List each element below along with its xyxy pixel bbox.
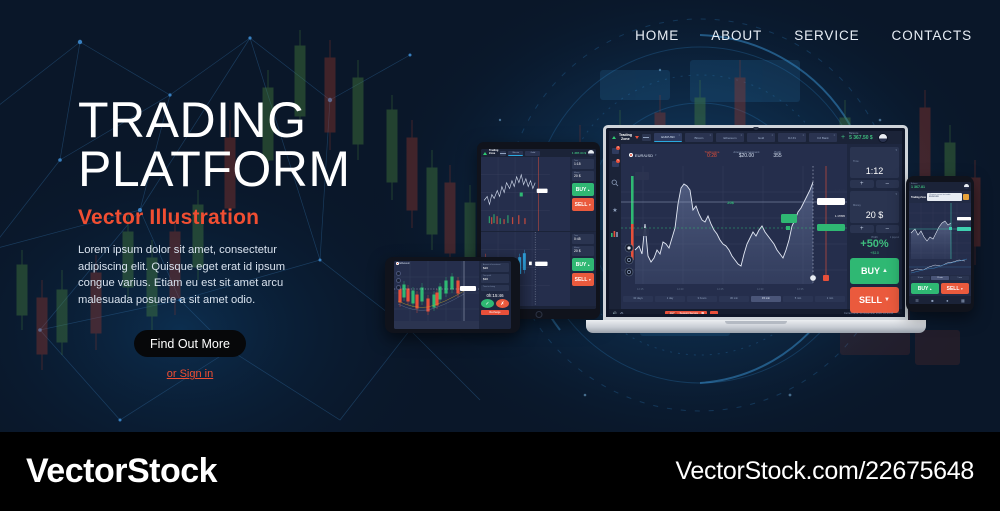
close-icon[interactable]: ✕ — [771, 134, 773, 137]
buy-button[interactable]: BUY ▲ — [850, 258, 899, 284]
laptop-screen: Trading Zone EUR/USD ✕ Bitcoin ✕ — [609, 131, 902, 314]
tablet-trade-panel-2: Time 0:45 Money 20 $ BUY ▲ SELL — [570, 232, 596, 306]
tablet-topbar: Trading Zone Bitcoin Gold 1 387.34 $ — [481, 149, 596, 157]
page-title-line1: TRADING — [78, 96, 408, 145]
laptop-tab-ethereum[interactable]: Ethereum ✕ — [716, 133, 744, 142]
time-plus-button[interactable]: + — [850, 180, 874, 188]
close-icon[interactable]: ✕ — [802, 134, 804, 137]
phone-pt-brand: Trading Zone — [911, 196, 926, 199]
stat-investment: Amount of investment $20.00 — [733, 151, 759, 160]
gear-icon[interactable]: ⚙ — [620, 311, 624, 314]
phone-ls-action-buttons: ✓ ✗ — [481, 299, 509, 308]
tablet-buy-button-1[interactable]: BUY ▲ — [572, 183, 594, 196]
sell-button[interactable]: SELL ▼ — [850, 287, 899, 313]
hero-paragraph: Lorem ipsum dolor sit amet, consectetur … — [78, 242, 290, 308]
svg-text:12:30: 12:30 — [757, 287, 764, 291]
chevron-down-icon[interactable]: ▾ — [895, 148, 897, 152]
laptop-base — [586, 320, 926, 333]
add-tab-button[interactable]: + — [841, 134, 845, 141]
tablet-balance: 1 387.34 $ — [572, 151, 586, 155]
arrow-down-icon: ▼ — [588, 278, 591, 282]
close-icon[interactable]: ✕ — [740, 134, 742, 137]
chat-icon[interactable] — [710, 311, 718, 314]
price-area-chart: 12:1512:20 12:2512:30 12:35 — [621, 166, 847, 292]
avatar[interactable] — [878, 133, 888, 143]
laptop-chart-area: EUR/USD ▾ Trading time 0:28 Amount of in… — [621, 144, 847, 309]
wallet-icon[interactable]: ■ — [931, 298, 933, 303]
phone-icon: ☎ — [701, 312, 704, 314]
nav-item-service[interactable]: SERVICE — [794, 28, 859, 43]
laptop-tab-djbank[interactable]: DJ Bank ✕ — [809, 133, 837, 142]
laptop-tab-bitcoin[interactable]: Bitcoin ✕ — [685, 133, 713, 142]
tablet-money-field-2[interactable]: Money 20 $ — [572, 246, 594, 256]
laptop-lid: Trading Zone EUR/USD ✕ Bitcoin ✕ — [603, 125, 908, 320]
phone-portrait-screen: Balance 1 367.81 Trading Zone Choose ass… — [909, 182, 971, 304]
timeframe-15-min[interactable]: 15 min — [751, 296, 781, 302]
price-tag-top: 1.18436 — [835, 188, 845, 192]
avatar[interactable] — [588, 150, 594, 156]
svg-text:12:35: 12:35 — [797, 287, 804, 291]
phone-pt-bottom-nav: ☰ ■ ● ▦ — [909, 296, 971, 304]
stat-profit: Profit 355 — [773, 151, 781, 160]
tablet-money-field-1[interactable]: Money 20 $ — [572, 171, 594, 181]
tablet-trade-panel-1: Time 1:15 Money 20 $ BUY ▲ SELL — [570, 157, 596, 231]
phone-ls-profit-field[interactable]: Your profit $30 — [481, 274, 509, 283]
arrow-down-icon: ▼ — [588, 203, 591, 207]
close-icon[interactable]: ✕ — [709, 134, 711, 137]
nav-item-contacts[interactable]: CONTACTS — [892, 28, 972, 43]
asset-search-input[interactable]: Choose asset to trade EUR/USD — [927, 193, 962, 201]
brand-triangle-up-icon — [483, 152, 487, 155]
card-icon[interactable] — [642, 134, 651, 141]
arrow-down-icon: ▼ — [884, 297, 890, 303]
close-icon[interactable]: ✕ — [833, 134, 835, 137]
phone-pt-tf-3[interactable]: 5 min — [950, 276, 969, 280]
laptop-tab-gold[interactable]: Gold ✕ — [747, 133, 775, 142]
arrow-up-icon: ▲ — [587, 263, 590, 267]
laptop-tab-eurusd[interactable]: EUR/USD ✕ — [654, 133, 682, 142]
portfolio-icon[interactable]: ☰ — [915, 298, 919, 303]
arrow-up-icon: ▲ — [587, 188, 590, 192]
phone-pt-tf-1[interactable]: 30 min — [911, 276, 930, 280]
tablet-time-field-1[interactable]: Time 1:15 — [572, 159, 594, 169]
stat-trading-time: Trading time 0:28 — [705, 151, 720, 160]
svg-text:12:25: 12:25 — [717, 287, 724, 291]
phone-pt-timeframes: 30 min 15 min 5 min — [909, 275, 971, 281]
main-navigation: HOME ABOUT SERVICE CONTACTS — [635, 28, 972, 43]
phone-pt-area-chart — [909, 203, 971, 275]
menu-icon[interactable]: ▦ — [961, 298, 965, 303]
arrow-up-icon: ▲ — [882, 268, 888, 274]
brand-triangle-down-icon — [635, 136, 639, 139]
phone-ls-trade-panel: Amount of investment $20 Your profit $30… — [479, 261, 511, 329]
alerts-icon[interactable] — [963, 194, 969, 200]
phone-pt-buy-button[interactable]: BUY ▲ — [911, 283, 939, 294]
phone-landscape-screen: Ethereum — [394, 261, 511, 329]
phone-pt-action-buttons: BUY ▲ SELL ▼ — [909, 283, 971, 294]
tablet-tab-bitcoin[interactable]: Bitcoin — [508, 151, 523, 156]
card-icon — [500, 151, 506, 156]
phone-ls-recharge-button[interactable]: Recharge — [481, 310, 509, 315]
laptop-body: 3 5 — [609, 144, 902, 309]
volume-icon[interactable]: 🔊 — [612, 311, 617, 314]
svg-text:12:20: 12:20 — [677, 287, 684, 291]
timeframe-buttons: 30 days 1 day 3 hours 30 min 15 min 5 mi… — [621, 295, 847, 302]
tablet-home-button[interactable] — [535, 311, 542, 318]
sidebar-item-alerts[interactable]: 5 — [611, 161, 619, 167]
tablet-chart-panel-1: Time 1:15 Money 20 $ BUY ▲ SELL — [481, 157, 596, 232]
arrow-up-icon: ▲ — [929, 287, 932, 291]
hero-subtitle: Vector Illustration — [78, 206, 408, 230]
alerts-icon[interactable]: ● — [946, 298, 948, 303]
hero-banner: HOME ABOUT SERVICE CONTACTS TRADING PLAT… — [0, 0, 1000, 432]
page-title-line2: PLATFORM — [78, 145, 408, 194]
avatar[interactable] — [964, 184, 969, 189]
phone-ls-closing-field[interactable]: Time to closing — [481, 285, 509, 291]
support-service-bar[interactable]: 24/7 Support Service ☎ — [665, 311, 708, 314]
sidebar-item-favorites[interactable]: ★ — [611, 199, 619, 217]
phone-ls-down-button[interactable]: ✗ — [496, 299, 509, 308]
laptop-sidebar: 3 5 — [609, 144, 621, 309]
webcam-icon — [753, 127, 758, 130]
laptop-trade-info: EUR/USD ▾ Trading time 0:28 Amount of in… — [621, 144, 847, 166]
chevron-down-icon[interactable]: ▾ — [895, 192, 897, 196]
current-pair[interactable]: EUR/USD ▾ — [629, 153, 657, 158]
hero-copy: TRADING PLATFORM Vector Illustration Lor… — [78, 96, 408, 380]
phone-ls-investment-field[interactable]: Amount of investment $20 — [481, 263, 509, 272]
tablet-brand: Trading Zone — [489, 150, 498, 155]
phone-pt-sell-button[interactable]: SELL ▼ — [941, 283, 969, 294]
nav-item-home[interactable]: HOME — [635, 28, 679, 43]
nav-item-about[interactable]: ABOUT — [711, 28, 762, 43]
phone-pt-balance: Balance 1 367.81 — [911, 184, 925, 190]
phone-ls-up-button[interactable]: ✓ — [481, 299, 494, 308]
balance-display: Balance 5 367.50 $ — [849, 133, 873, 141]
laptop-topbar: Trading Zone EUR/USD ✕ Bitcoin ✕ — [609, 131, 902, 144]
tablet-time-field-2[interactable]: Time 0:45 — [572, 234, 594, 244]
money-minus-button[interactable]: – — [876, 225, 900, 233]
tablet-buy-button-2[interactable]: BUY ▲ — [572, 258, 594, 271]
tablet-line-chart-1 — [481, 157, 570, 231]
sidebar-item-orders[interactable]: 3 — [611, 148, 619, 154]
chart-icon — [611, 230, 619, 237]
laptop-tab-dj1[interactable]: DJ #1 ✕ — [778, 133, 806, 142]
app-logo: Trading Zone — [619, 134, 632, 141]
close-icon[interactable]: ✕ — [678, 134, 680, 137]
phone-ls-timer: 0h:15:46 — [481, 293, 509, 298]
phone-pt-topbar: Balance 1 367.81 — [909, 182, 971, 191]
price-tag-mid: 1.17845 — [835, 214, 845, 218]
sign-in-link[interactable]: or Sign in — [134, 368, 246, 380]
money-stepper: + – — [850, 225, 899, 233]
find-out-more-button[interactable]: Find Out More — [134, 330, 246, 357]
tablet-tab-gold[interactable]: Gold — [525, 151, 540, 156]
arrow-down-icon: ▼ — [960, 287, 963, 291]
profit-display: Profit 1 payout +50% +$10 — [850, 236, 899, 255]
main-area-chart: 12:1512:20 12:2512:30 12:35 20$ 1.18436 … — [621, 166, 847, 292]
timeframe-5-min[interactable]: 5 min — [783, 296, 813, 302]
vectorstock-url: VectorStock.com/22675648 — [675, 457, 974, 486]
search-icon — [611, 179, 619, 187]
star-icon: ★ — [612, 208, 617, 214]
laptop-trade-panel: Time ▾ 1:12 + – Money ▾ 20 $ — [847, 144, 902, 309]
phone-pt-tf-2[interactable]: 15 min — [931, 276, 950, 280]
phone-pt-chart — [909, 203, 971, 275]
time-field[interactable]: Time ▾ 1:12 — [850, 147, 899, 178]
watermark-footer: VectorStock VectorStock.com/22675648 — [0, 432, 1000, 511]
chevron-down-icon: ▾ — [655, 153, 657, 157]
brand-triangle-up-icon — [612, 136, 616, 139]
time-stepper: + – — [850, 180, 899, 188]
sidebar-item-stats[interactable] — [611, 224, 619, 242]
timeframe-1-min[interactable]: 1 min — [815, 296, 845, 302]
timeframe-3-hours[interactable]: 3 hours — [687, 296, 717, 302]
laptop-trackpad-notch — [725, 321, 787, 324]
svg-text:12:15: 12:15 — [637, 287, 644, 291]
timeframe-30-days[interactable]: 30 days — [623, 296, 653, 302]
tablet-sell-button-2[interactable]: SELL ▼ — [572, 273, 594, 286]
money-field[interactable]: Money ▾ 20 $ — [850, 191, 899, 222]
timeframe-1-day[interactable]: 1 day — [655, 296, 685, 302]
sidebar-item-search[interactable] — [611, 174, 619, 192]
vectorstock-logo: VectorStock — [26, 452, 217, 491]
chart-trade-marker: 20$ — [727, 200, 734, 205]
laptop-device: Trading Zone EUR/USD ✕ Bitcoin ✕ — [603, 125, 908, 333]
timeframe-30-min[interactable]: 30 min — [719, 296, 749, 302]
time-minus-button[interactable]: – — [876, 180, 900, 188]
money-plus-button[interactable]: + — [850, 225, 874, 233]
fullscreen-icon[interactable]: ⛶ — [896, 311, 899, 314]
status-dot-icon — [629, 153, 633, 157]
tablet-sell-button-1[interactable]: SELL ▼ — [572, 198, 594, 211]
current-time: Current time: 24 November 2018, 12:24:45 — [844, 312, 893, 314]
phone-portrait-device: Balance 1 367.81 Trading Zone Choose ass… — [906, 176, 974, 312]
